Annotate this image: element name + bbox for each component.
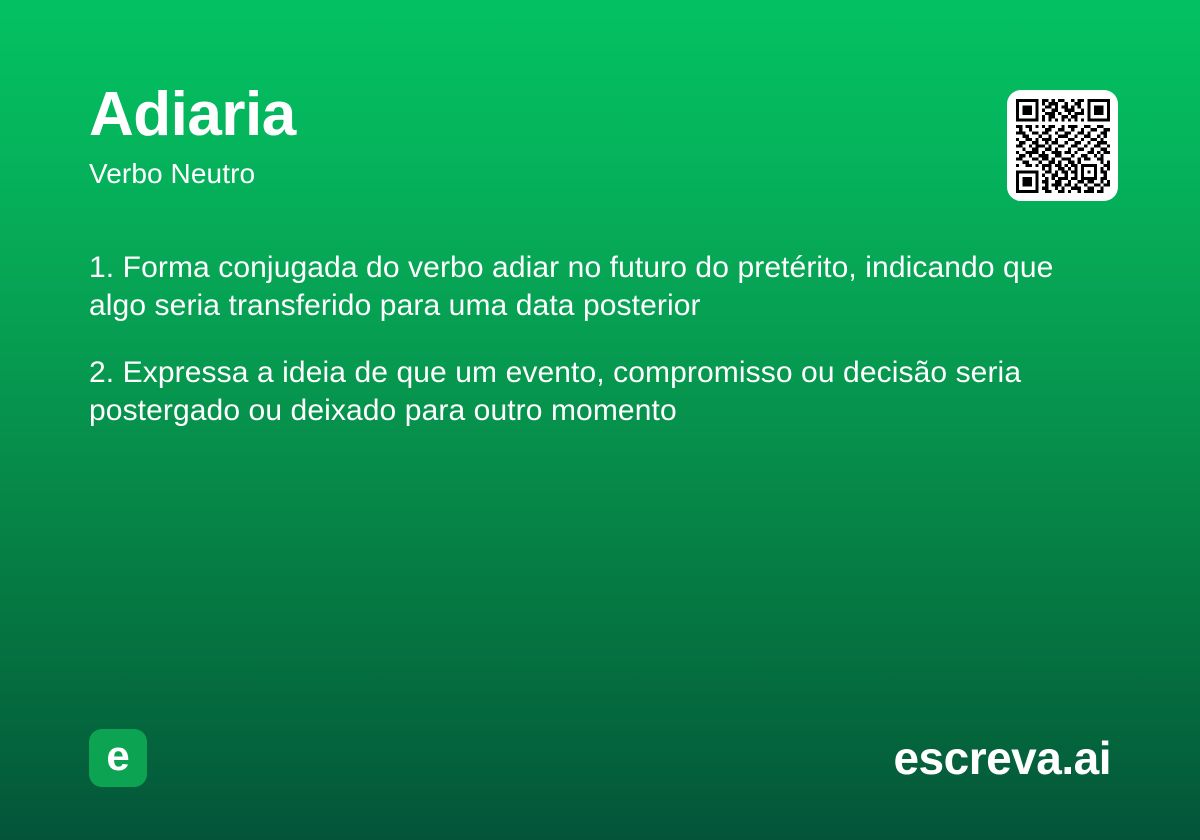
word-class-label: Verbo Neutro — [89, 160, 1111, 188]
definition-item: 1. Forma conjugada do verbo adiar no fut… — [89, 249, 1099, 325]
qr-code[interactable] — [1007, 90, 1118, 201]
page-title: Adiaria — [89, 84, 1111, 146]
definition-card: Adiaria Verbo Neutro — [0, 0, 1200, 840]
qr-code-icon — [1016, 99, 1110, 193]
definition-item: 2. Expressa a ideia de que um evento, co… — [89, 354, 1099, 430]
brand-wordmark[interactable]: escreva.ai — [893, 735, 1111, 781]
definitions-list: 1. Forma conjugada do verbo adiar no fut… — [89, 249, 1099, 430]
card-header: Adiaria Verbo Neutro — [89, 84, 1111, 188]
card-footer: e escreva.ai — [89, 728, 1111, 788]
escreva-logo-icon[interactable]: e — [89, 729, 147, 787]
